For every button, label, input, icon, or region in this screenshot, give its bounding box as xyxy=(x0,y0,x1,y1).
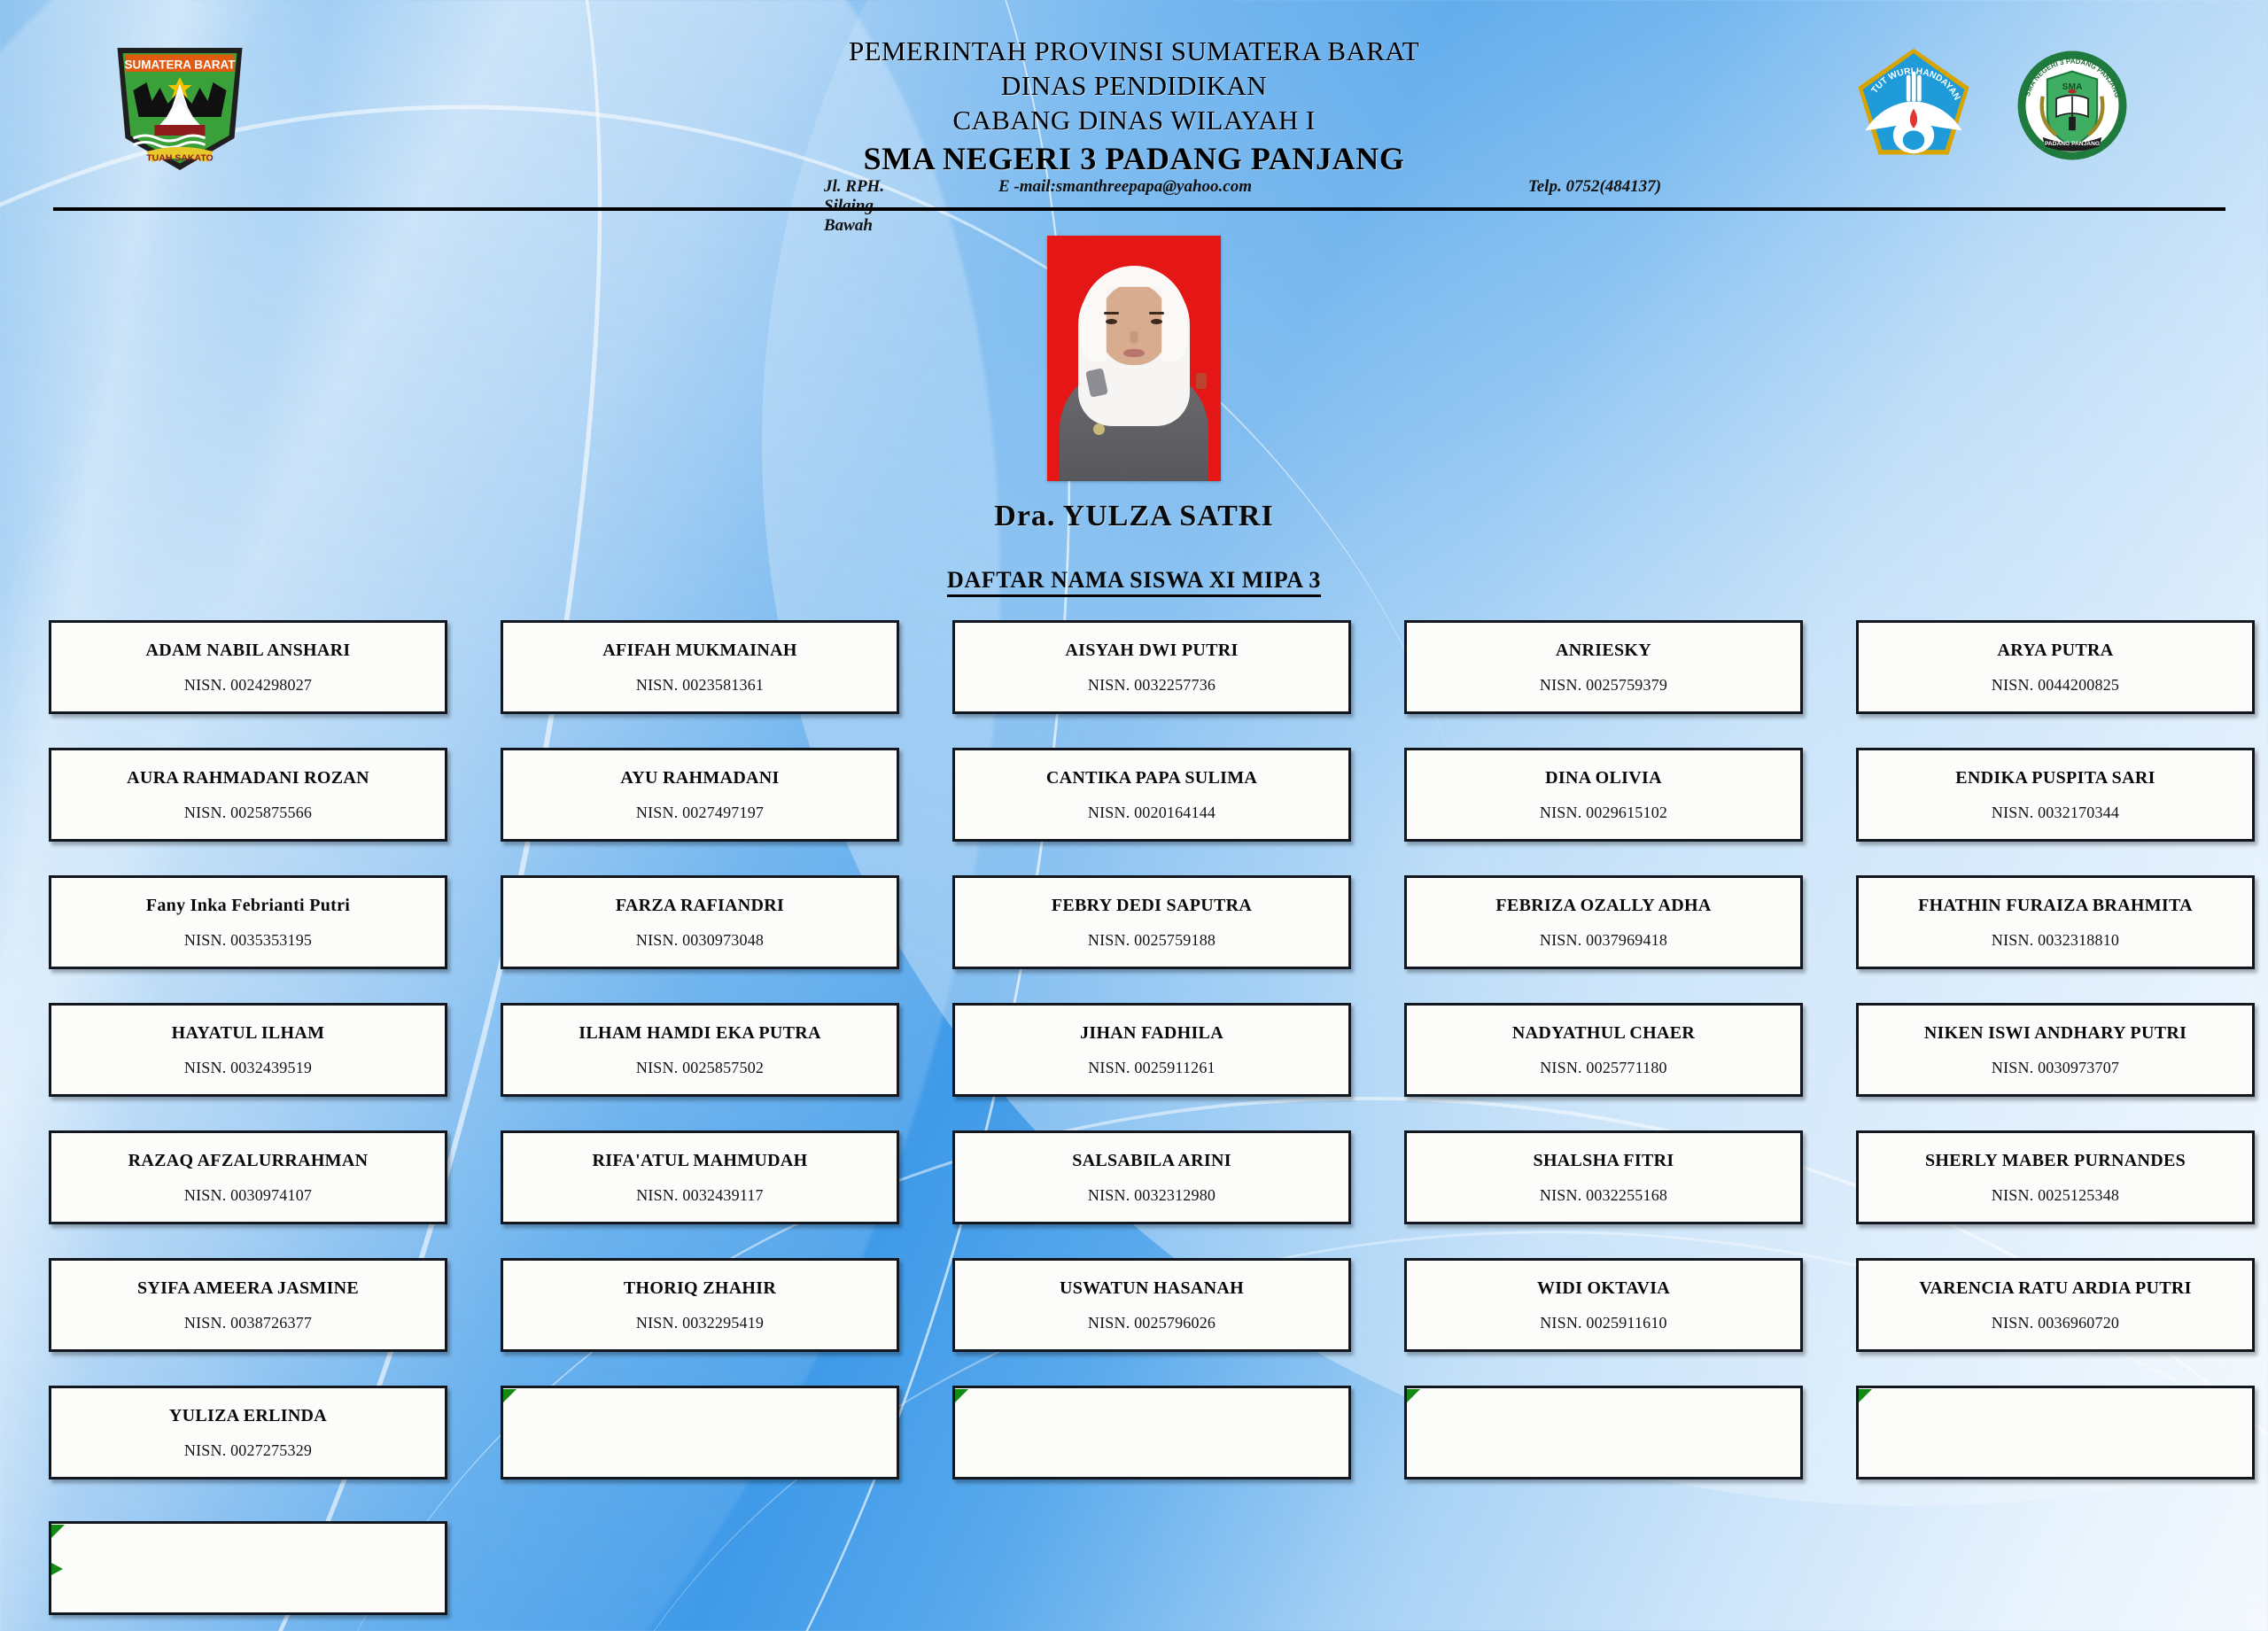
student-name: AURA RAHMADANI ROZAN xyxy=(120,768,377,788)
student-card[interactable]: ENDIKA PUSPITA SARINISN. 0032170344 xyxy=(1856,748,2255,842)
student-card[interactable]: SYIFA AMEERA JASMINENISN. 0038726377 xyxy=(49,1258,447,1352)
student-card[interactable]: WIDI OKTAVIANISN. 0025911610 xyxy=(1404,1258,1803,1352)
student-name: FARZA RAFIANDRI xyxy=(609,896,791,915)
student-nisn: NISN. 0044200825 xyxy=(1992,676,2119,695)
trailing-card-row xyxy=(49,1521,447,1615)
student-card[interactable]: AISYAH DWI PUTRINISN. 0032257736 xyxy=(952,620,1351,714)
student-name: NADYATHUL CHAER xyxy=(1505,1023,1702,1043)
student-name: USWATUN HASANAH xyxy=(1052,1278,1251,1298)
header-divider xyxy=(53,207,2225,211)
student-name: ANRIESKY xyxy=(1549,641,1658,660)
student-name: DINA OLIVIA xyxy=(1538,768,1669,788)
student-nisn: NISN. 0025759188 xyxy=(1088,931,1216,950)
student-nisn: NISN. 0025796026 xyxy=(1088,1314,1216,1332)
header-phone: Telp. 0752(484137) xyxy=(1338,177,1745,236)
student-nisn: NISN. 0025771180 xyxy=(1540,1059,1667,1077)
student-name: CANTIKA PAPA SULIMA xyxy=(1039,768,1264,788)
green-triangle-marker-icon xyxy=(51,1563,63,1575)
student-name: SHERLY MABER PURNANDES xyxy=(1918,1151,2193,1170)
student-card[interactable]: FEBRIZA OZALLY ADHANISN. 0037969418 xyxy=(1404,875,1803,969)
student-nisn: NISN. 0032312980 xyxy=(1088,1186,1216,1205)
student-card[interactable]: SALSABILA ARININISN. 0032312980 xyxy=(952,1130,1351,1224)
student-card[interactable]: AFIFAH MUKMAINAHNISN. 0023581361 xyxy=(501,620,899,714)
teacher-photo xyxy=(1047,236,1221,481)
green-triangle-marker-icon xyxy=(1859,1389,1872,1402)
header-institution-text: PEMERINTAH PROVINSI SUMATERA BARAT DINAS… xyxy=(0,34,2268,180)
student-card[interactable]: YULIZA ERLINDANISN. 0027275329 xyxy=(49,1386,447,1480)
student-nisn: NISN. 0025759379 xyxy=(1540,676,1667,695)
student-name: FEBRIZA OZALLY ADHA xyxy=(1488,896,1718,915)
student-nisn: NISN. 0025911261 xyxy=(1088,1059,1216,1077)
student-card[interactable]: AYU RAHMADANINISN. 0027497197 xyxy=(501,748,899,842)
student-name: RIFA'ATUL MAHMUDAH xyxy=(586,1151,815,1170)
student-name: AFIFAH MUKMAINAH xyxy=(595,641,804,660)
student-card[interactable]: AURA RAHMADANI ROZANNISN. 0025875566 xyxy=(49,748,447,842)
student-name: SALSABILA ARINI xyxy=(1065,1151,1239,1170)
student-nisn: NISN. 0030973707 xyxy=(1992,1059,2119,1077)
student-name: NIKEN ISWI ANDHARY PUTRI xyxy=(1917,1023,2194,1043)
student-nisn: NISN. 0032439117 xyxy=(636,1186,764,1205)
header-line-2: DINAS PENDIDIKAN xyxy=(0,68,2268,103)
student-nisn: NISN. 0029615102 xyxy=(1540,804,1667,822)
student-name: ENDIKA PUSPITA SARI xyxy=(1948,768,2162,788)
student-card[interactable]: ANRIESKYNISN. 0025759379 xyxy=(1404,620,1803,714)
header-line-3: CABANG DINAS WILAYAH I xyxy=(0,103,2268,137)
student-nisn: NISN. 0025875566 xyxy=(184,804,312,822)
student-card[interactable]: NADYATHUL CHAERNISN. 0025771180 xyxy=(1404,1003,1803,1097)
section-title-text: DAFTAR NAMA SISWA XI MIPA 3 xyxy=(947,567,1321,597)
student-nisn: NISN. 0025911610 xyxy=(1540,1314,1667,1332)
student-card[interactable]: JIHAN FADHILANISN. 0025911261 xyxy=(952,1003,1351,1097)
student-nisn: NISN. 0020164144 xyxy=(1088,804,1216,822)
student-nisn: NISN. 0030973048 xyxy=(636,931,764,950)
student-nisn: NISN. 0023581361 xyxy=(636,676,764,695)
student-name: THORIQ ZHAHIR xyxy=(617,1278,783,1298)
student-card-empty[interactable] xyxy=(501,1386,899,1480)
student-nisn: NISN. 0032257736 xyxy=(1088,676,1216,695)
teacher-portrait-block: Dra. YULZA SATRI xyxy=(0,236,2268,533)
student-card[interactable]: SHERLY MABER PURNANDESNISN. 0025125348 xyxy=(1856,1130,2255,1224)
student-name: FHATHIN FURAIZA BRAHMITA xyxy=(1911,896,2200,915)
student-name: ADAM NABIL ANSHARI xyxy=(139,641,358,660)
teacher-name: Dra. YULZA SATRI xyxy=(0,500,2268,533)
student-nisn: NISN. 0037969418 xyxy=(1540,931,1667,950)
student-card[interactable]: DINA OLIVIANISN. 0029615102 xyxy=(1404,748,1803,842)
student-name: RAZAQ AFZALURRAHMAN xyxy=(121,1151,376,1170)
section-title: DAFTAR NAMA SISWA XI MIPA 3 xyxy=(0,567,2268,594)
student-card[interactable]: ARYA PUTRANISN. 0044200825 xyxy=(1856,620,2255,714)
student-nisn: NISN. 0025857502 xyxy=(636,1059,764,1077)
student-nisn: NISN. 0032295419 xyxy=(636,1314,764,1332)
student-nisn: NISN. 0032255168 xyxy=(1540,1186,1667,1205)
student-nisn: NISN. 0032439519 xyxy=(184,1059,312,1077)
header-school-name: SMA NEGERI 3 PADANG PANJANG xyxy=(0,137,2268,180)
student-card[interactable]: FHATHIN FURAIZA BRAHMITANISN. 0032318810 xyxy=(1856,875,2255,969)
green-triangle-marker-icon xyxy=(955,1389,968,1402)
student-name: AISYAH DWI PUTRI xyxy=(1058,641,1245,660)
student-nisn: NISN. 0035353195 xyxy=(184,931,312,950)
header-contact-row: Jl. RPH. Silaing Bawah E -mail:smanthree… xyxy=(0,177,2268,236)
student-card[interactable]: VARENCIA RATU ARDIA PUTRINISN. 003696072… xyxy=(1856,1258,2255,1352)
student-nisn: NISN. 0027497197 xyxy=(636,804,764,822)
student-card[interactable]: SHALSHA FITRINISN. 0032255168 xyxy=(1404,1130,1803,1224)
student-name: AYU RAHMADANI xyxy=(613,768,786,788)
student-nisn: NISN. 0024298027 xyxy=(184,676,312,695)
student-card[interactable]: RIFA'ATUL MAHMUDAHNISN. 0032439117 xyxy=(501,1130,899,1224)
header-email: E -mail:smanthreepapa@yahoo.com xyxy=(913,177,1338,236)
student-name: Fany Inka Febrianti Putri xyxy=(139,896,357,915)
student-nisn: NISN. 0032170344 xyxy=(1992,804,2119,822)
student-name: JIHAN FADHILA xyxy=(1073,1023,1231,1043)
student-card[interactable]: FEBRY DEDI SAPUTRANISN. 0025759188 xyxy=(952,875,1351,969)
student-card[interactable]: CANTIKA PAPA SULIMANISN. 0020164144 xyxy=(952,748,1351,842)
student-card[interactable]: THORIQ ZHAHIRNISN. 0032295419 xyxy=(501,1258,899,1352)
green-triangle-marker-icon xyxy=(503,1389,517,1402)
green-triangle-marker-icon xyxy=(51,1525,65,1538)
student-card[interactable]: ADAM NABIL ANSHARINISN. 0024298027 xyxy=(49,620,447,714)
student-name: SHALSHA FITRI xyxy=(1526,1151,1682,1170)
student-card[interactable]: RAZAQ AFZALURRAHMANNISN. 0030974107 xyxy=(49,1130,447,1224)
student-name: FEBRY DEDI SAPUTRA xyxy=(1045,896,1259,915)
green-triangle-marker-icon xyxy=(1407,1389,1420,1402)
student-card-empty[interactable] xyxy=(49,1521,447,1615)
student-nisn: NISN. 0036960720 xyxy=(1992,1314,2119,1332)
student-nisn: NISN. 0027275329 xyxy=(184,1441,312,1460)
student-name: VARENCIA RATU ARDIA PUTRI xyxy=(1912,1278,2198,1298)
student-card-empty[interactable] xyxy=(952,1386,1351,1480)
student-nisn: NISN. 0032318810 xyxy=(1992,931,2119,950)
student-card[interactable]: Fany Inka Febrianti PutriNISN. 003535319… xyxy=(49,875,447,969)
header-address: Jl. RPH. Silaing Bawah xyxy=(523,177,913,236)
student-name: WIDI OKTAVIA xyxy=(1530,1278,1677,1298)
student-name: ILHAM HAMDI EKA PUTRA xyxy=(571,1023,828,1043)
student-name: SYIFA AMEERA JASMINE xyxy=(130,1278,366,1298)
student-nisn: NISN. 0025125348 xyxy=(1992,1186,2119,1205)
student-card-grid: ADAM NABIL ANSHARINISN. 0024298027AFIFAH… xyxy=(49,620,2228,1480)
student-name: HAYATUL ILHAM xyxy=(165,1023,332,1043)
student-card[interactable]: NIKEN ISWI ANDHARY PUTRINISN. 0030973707 xyxy=(1856,1003,2255,1097)
header-line-1: PEMERINTAH PROVINSI SUMATERA BARAT xyxy=(0,34,2268,68)
student-card-empty[interactable] xyxy=(1404,1386,1803,1480)
student-card-empty[interactable] xyxy=(1856,1386,2255,1480)
student-card[interactable]: FARZA RAFIANDRINISN. 0030973048 xyxy=(501,875,899,969)
student-name: ARYA PUTRA xyxy=(1990,641,2120,660)
document-header: SUMATERA BARAT TUAH SAKATO TUT WURI HAND… xyxy=(0,0,2268,206)
student-name: YULIZA ERLINDA xyxy=(162,1406,334,1425)
student-card[interactable]: ILHAM HAMDI EKA PUTRANISN. 0025857502 xyxy=(501,1003,899,1097)
student-card[interactable]: HAYATUL ILHAMNISN. 0032439519 xyxy=(49,1003,447,1097)
student-nisn: NISN. 0038726377 xyxy=(184,1314,312,1332)
student-card[interactable]: USWATUN HASANAHNISN. 0025796026 xyxy=(952,1258,1351,1352)
student-nisn: NISN. 0030974107 xyxy=(184,1186,312,1205)
